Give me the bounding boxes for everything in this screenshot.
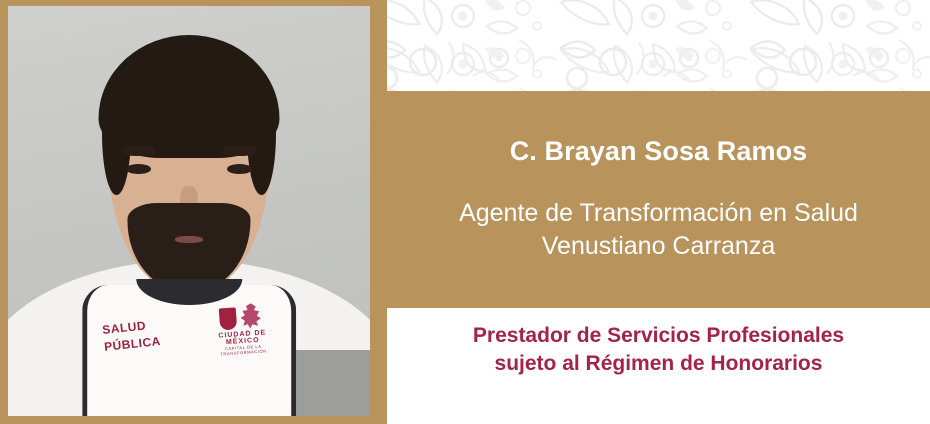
coat-of-arms-icon bbox=[219, 308, 237, 331]
person-role: Agente de Transformación en Salud Venust… bbox=[459, 197, 858, 263]
portrait-photo: SALUD PÚBLICA CIUDAD DE MÉXICO CAPITAL D… bbox=[8, 6, 370, 416]
hair-left-shape bbox=[102, 72, 131, 195]
id-badge-card: SALUD PÚBLICA CIUDAD DE MÉXICO CAPITAL D… bbox=[0, 0, 930, 424]
mouth-shape bbox=[175, 236, 204, 243]
vest-logo-marks bbox=[200, 300, 283, 332]
legal-note-text: Prestador de Servicios Profesionales suj… bbox=[473, 322, 844, 379]
info-panel: C. Brayan Sosa Ramos Agente de Transform… bbox=[387, 0, 930, 424]
hair-right-shape bbox=[247, 72, 276, 195]
vertical-gold-divider bbox=[377, 0, 387, 424]
vest-cdmx-logo: CIUDAD DE MÉXICO CAPITAL DE LA TRANSFORM… bbox=[200, 300, 285, 358]
legal-note-band: Prestador de Servicios Profesionales suj… bbox=[387, 308, 930, 424]
vest-salud-publica-text: SALUD PÚBLICA bbox=[102, 316, 162, 357]
vest-collar-shape bbox=[136, 279, 242, 305]
floral-watermark-pattern bbox=[387, 0, 930, 91]
cdmx-emblem-icon bbox=[240, 303, 264, 329]
photo-panel: SALUD PÚBLICA CIUDAD DE MÉXICO CAPITAL D… bbox=[0, 0, 377, 424]
safety-vest: SALUD PÚBLICA CIUDAD DE MÉXICO CAPITAL D… bbox=[82, 285, 296, 416]
eyebrow-left-shape bbox=[122, 145, 155, 156]
person-name: C. Brayan Sosa Ramos bbox=[510, 136, 808, 167]
eye-left-shape bbox=[126, 164, 151, 174]
eyebrow-right-shape bbox=[223, 145, 256, 156]
eye-right-shape bbox=[227, 164, 252, 174]
identity-gold-band: C. Brayan Sosa Ramos Agente de Transform… bbox=[387, 91, 930, 308]
